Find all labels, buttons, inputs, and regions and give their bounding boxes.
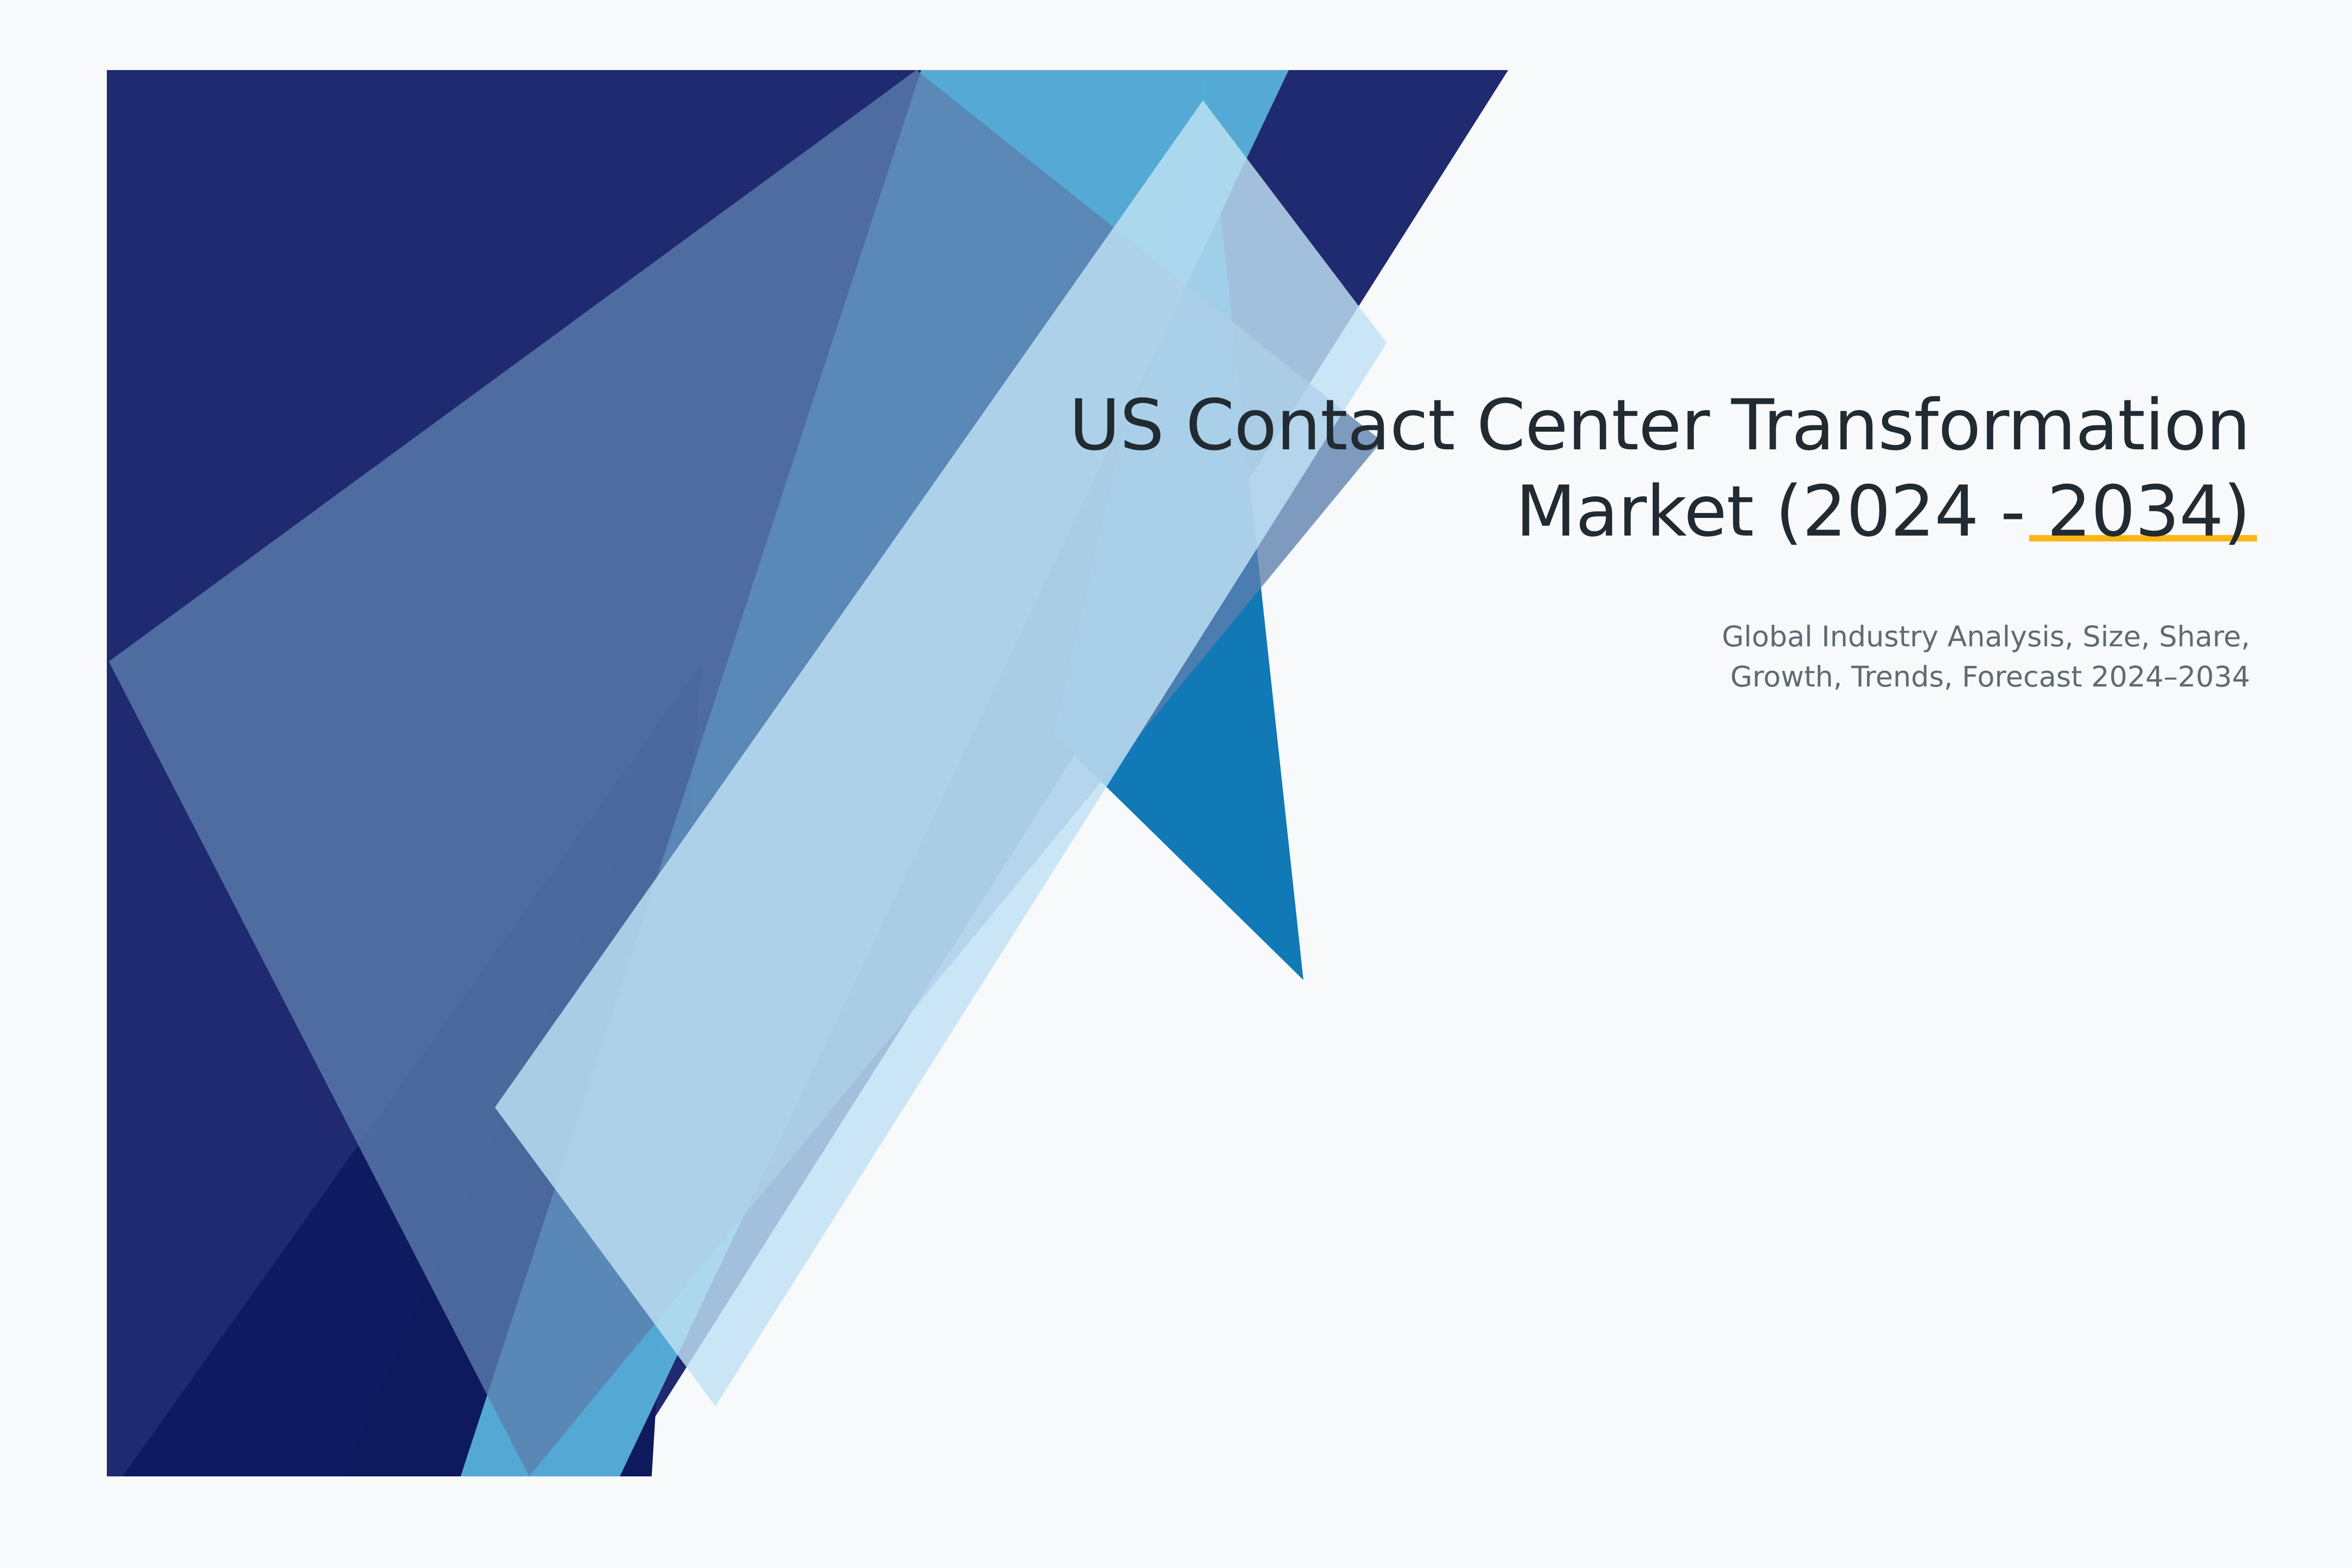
subtitle-line-2: Growth, Trends, Forecast 2024–2034: [927, 657, 2250, 697]
subtitle-line-1: Global Industry Analysis, Size, Share,: [927, 616, 2250, 657]
title-line-2-prefix: Market (2024 -: [1516, 470, 2047, 552]
page-subtitle: Global Industry Analysis, Size, Share, G…: [927, 555, 2250, 697]
title-line-1: US Contact Center Transformation: [927, 382, 2250, 468]
cover-text-block: US Contact Center Transformation Market …: [927, 382, 2250, 697]
report-cover: US Contact Center Transformation Market …: [0, 0, 2352, 1568]
page-title: US Contact Center Transformation Market …: [927, 382, 2250, 555]
title-highlight-years: 2034): [2047, 468, 2250, 555]
abstract-geometric-artwork: [0, 0, 2352, 1568]
title-line-2: Market (2024 - 2034): [927, 468, 2250, 555]
